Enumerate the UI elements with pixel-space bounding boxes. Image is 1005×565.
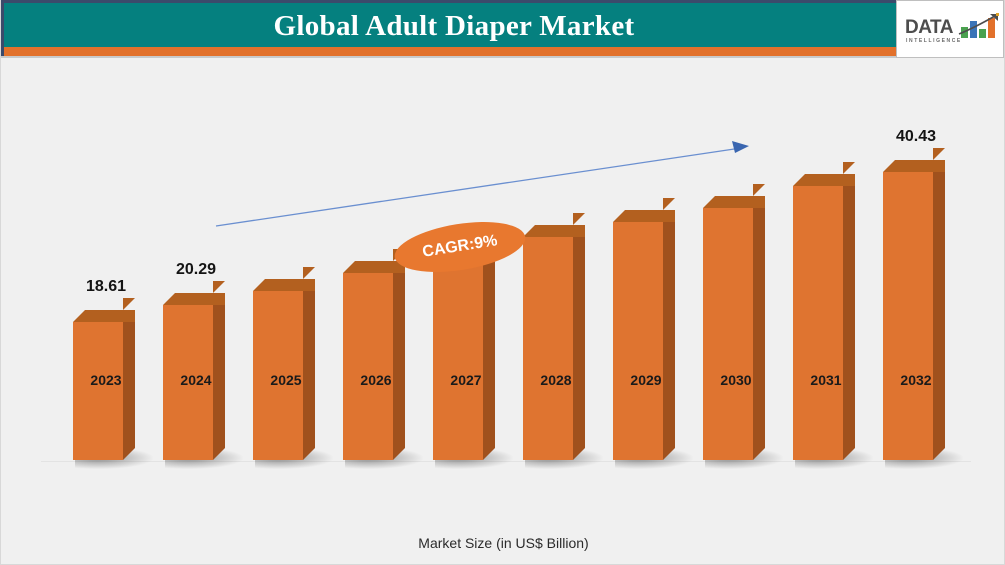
bar-front-face	[793, 186, 843, 460]
bar-top-bevel-left	[73, 310, 85, 322]
bar-side-bevel	[933, 448, 945, 460]
logo-graphic: DATA INTELLIGENCE	[905, 13, 997, 49]
bar-side-bevel	[303, 448, 315, 460]
bar-side-face	[843, 186, 855, 448]
bar-side-bevel	[573, 448, 585, 460]
bar-front-face	[73, 322, 123, 460]
bar-side-bevel	[393, 448, 405, 460]
bar-side-bevel	[123, 448, 135, 460]
bar-chart: 18.61 2023 20.29 2024 2025	[1, 58, 1005, 565]
bar-value-label: 40.43	[861, 128, 971, 146]
bar-top-face	[715, 196, 765, 208]
bar-top-bevel-left	[343, 261, 355, 273]
bar-top-bevel-right	[753, 184, 765, 196]
bar-front-face	[523, 237, 573, 460]
bar-top-face	[265, 279, 315, 291]
bar-top-face	[175, 293, 225, 305]
bar-side-face	[753, 208, 765, 448]
chart-infographic: Global Adult Diaper Market DATA INTELLIG…	[0, 0, 1005, 565]
bar-side-bevel	[843, 448, 855, 460]
bar-top-face	[85, 310, 135, 322]
bar-side-bevel	[213, 448, 225, 460]
bar-side-bevel	[483, 448, 495, 460]
chart-baseline	[41, 461, 971, 462]
bar-side-bevel	[753, 448, 765, 460]
logo-wordmark: DATA	[905, 17, 953, 39]
bar-side-face	[393, 273, 405, 448]
bar-side-face	[483, 259, 495, 448]
bar-front-face	[433, 259, 483, 460]
bar-top-bevel-right	[573, 213, 585, 225]
bar-value-label: 18.61	[51, 278, 161, 296]
cagr-label: CAGR:9%	[391, 214, 529, 280]
bar-side-face	[663, 222, 675, 448]
bar-top-bevel-left	[793, 174, 805, 186]
bar-side-face	[933, 172, 945, 448]
bar-value-label: 20.29	[141, 261, 251, 279]
bar-top-bevel-left	[253, 279, 265, 291]
bar-top-bevel-right	[933, 148, 945, 160]
bar-top-face	[895, 160, 945, 172]
brand-logo: DATA INTELLIGENCE	[896, 0, 1004, 58]
bar-side-face	[573, 237, 585, 448]
bar-top-face	[625, 210, 675, 222]
bar-front-face	[883, 172, 933, 460]
bar-top-bevel-right	[843, 162, 855, 174]
bar-top-bevel-left	[883, 160, 895, 172]
chart-caption: Market Size (in US$ Billion)	[1, 535, 1005, 551]
bar-front-face	[703, 208, 753, 460]
bar-top-bevel-right	[123, 298, 135, 310]
bar-front-face	[343, 273, 393, 460]
bar-top-bevel-right	[663, 198, 675, 210]
bar-top-bevel-left	[163, 293, 175, 305]
bar-front-face	[613, 222, 663, 460]
bar-top-bevel-left	[613, 210, 625, 222]
header-accent-stripe	[1, 47, 1005, 56]
bar-top-bevel-right	[213, 281, 225, 293]
page-title: Global Adult Diaper Market	[4, 3, 904, 50]
axis-label-2032: 2032	[861, 372, 971, 388]
bar-side-bevel	[663, 448, 675, 460]
header-bar: Global Adult Diaper Market	[1, 0, 1005, 47]
bar-top-bevel-right	[303, 267, 315, 279]
cagr-badge: CAGR:9%	[391, 214, 529, 280]
bar-top-face	[805, 174, 855, 186]
bar-side-face	[303, 291, 315, 448]
logo-subtext: INTELLIGENCE	[906, 38, 962, 44]
logo-growth-arrow-icon	[957, 13, 1001, 37]
bar-top-bevel-left	[703, 196, 715, 208]
bar-top-face	[535, 225, 585, 237]
